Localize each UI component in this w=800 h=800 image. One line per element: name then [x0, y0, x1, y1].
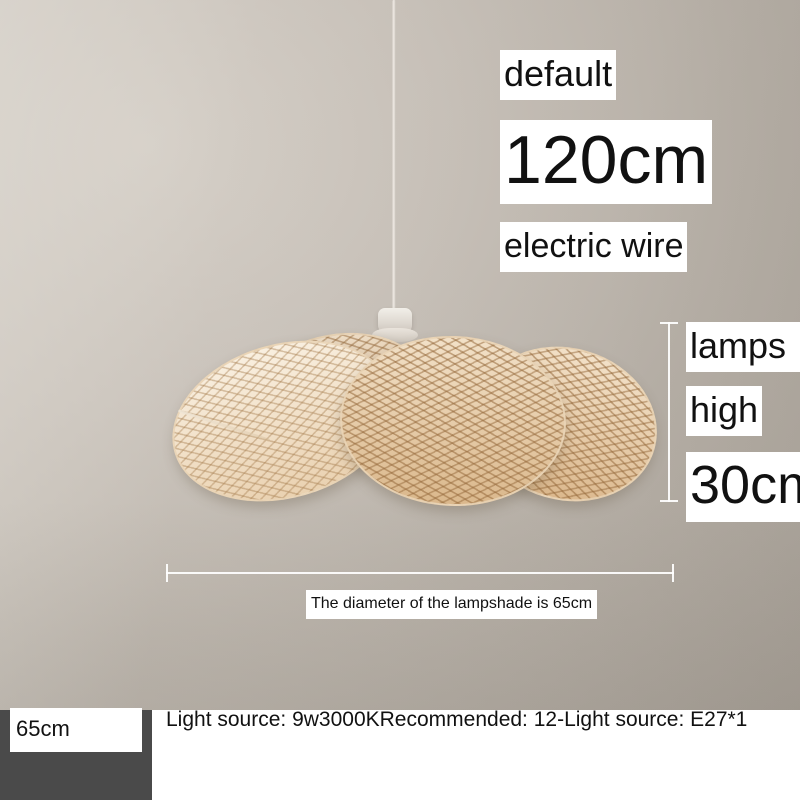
- diameter-measure-cap-left: [166, 564, 168, 582]
- rattan-petal-stem: [178, 409, 270, 442]
- lamps-label: lamps: [686, 322, 800, 372]
- diameter-measure-line: [166, 572, 674, 574]
- diameter-measure-cap-right: [672, 564, 674, 582]
- cord-length-label: 120cm: [500, 120, 712, 204]
- rattan-petal-right: [457, 326, 676, 523]
- high-label: high: [686, 386, 762, 436]
- rattan-petal-left: [153, 316, 415, 527]
- height-measure-line: [668, 322, 670, 502]
- size-chip-label: 65cm: [10, 708, 142, 752]
- height-measure-cap-bottom: [660, 500, 678, 502]
- lamp-height-label: 30cm: [686, 452, 800, 522]
- lamp-socket-canopy: [378, 308, 412, 334]
- lamp-socket-ring: [372, 328, 418, 342]
- default-label: default: [500, 50, 616, 100]
- lamp-cord: [392, 0, 396, 312]
- electric-wire-label: electric wire: [500, 222, 687, 272]
- rattan-petal-center: [337, 332, 569, 510]
- height-measure-cap-top: [660, 322, 678, 324]
- rattan-petal-back: [237, 319, 440, 473]
- diameter-note-label: The diameter of the lampshade is 65cm: [306, 590, 597, 619]
- product-image-scene: default 120cm electric wire lamps high 3…: [0, 0, 800, 800]
- spec-text-label: Light source: 9w3000KRecommended: 12-Lig…: [166, 708, 800, 732]
